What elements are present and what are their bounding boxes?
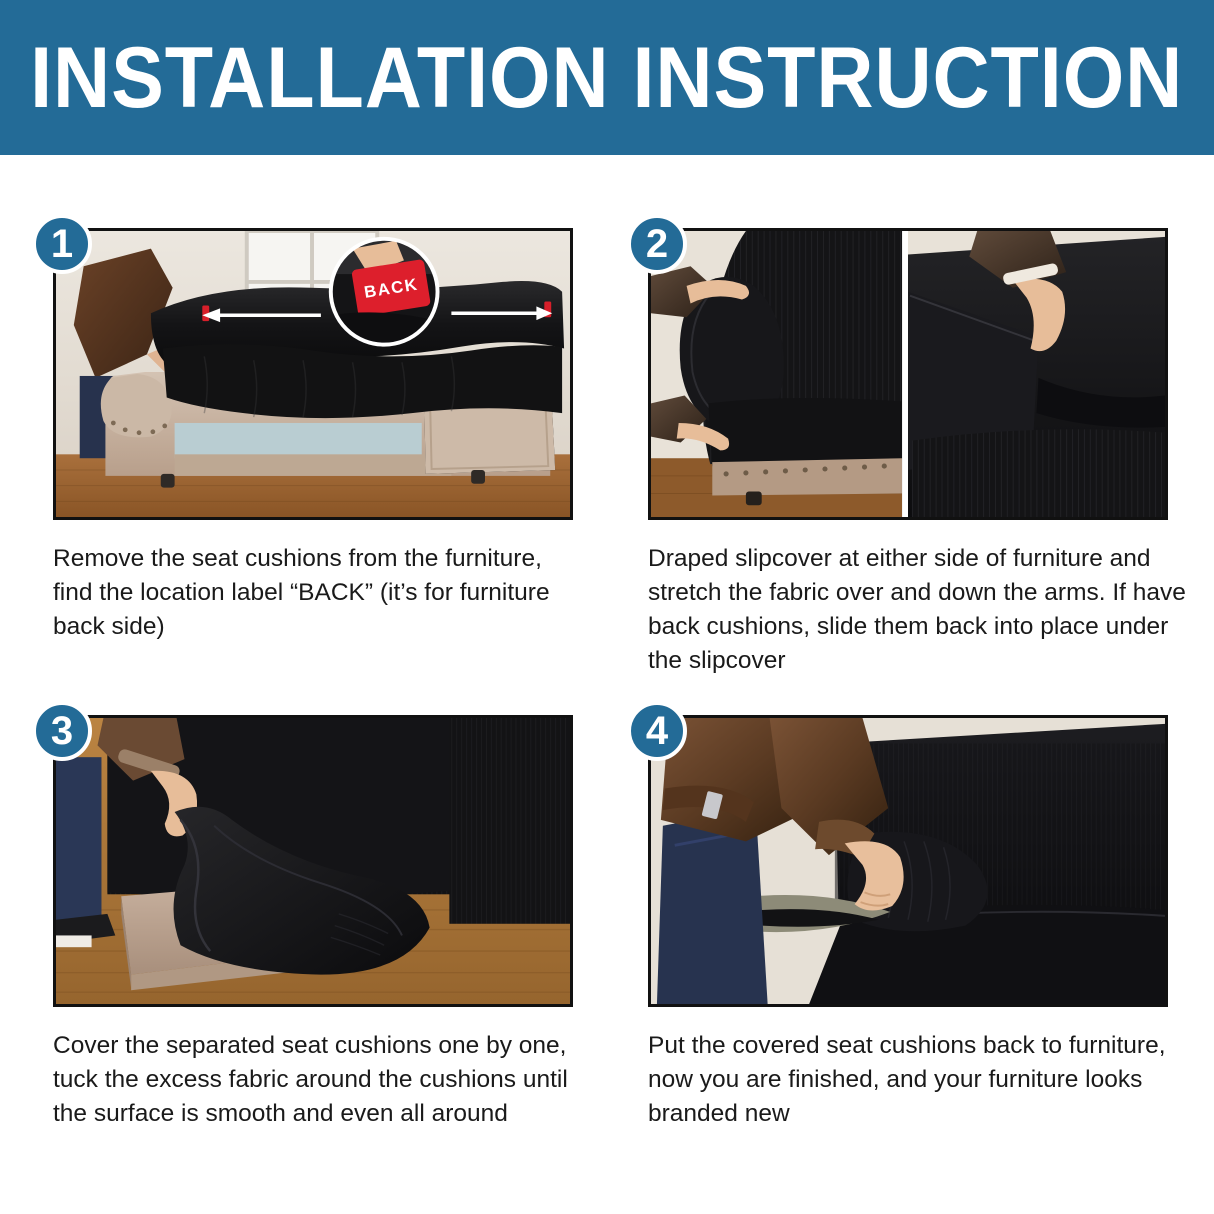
step-2-caption: Draped slipcover at either side of furni…: [648, 542, 1193, 678]
step-3-photo-frame: [53, 715, 573, 1007]
step-3-badge: 3: [32, 701, 92, 761]
step-1-illustration: BACK: [56, 231, 570, 517]
step-1-badge: 1: [32, 214, 92, 274]
step-4-photo: 4: [648, 715, 1168, 1007]
step-2: 2 Draped slipcover at either side of fur…: [627, 228, 1167, 678]
step-3-illustration: [56, 718, 570, 1004]
step-1: BACK 1 Remove the seat cushions from the…: [32, 228, 572, 644]
step-2-badge: 2: [627, 214, 687, 274]
page-title: INSTALLATION INSTRUCTION: [30, 35, 1183, 121]
step-2-panel-left: [651, 231, 902, 517]
step-4-caption: Put the covered seat cushions back to fu…: [648, 1029, 1193, 1131]
step-4: 4 Put the covered seat cushions back to …: [627, 715, 1167, 1131]
step-1-photo: BACK 1: [53, 228, 573, 520]
step-2-panel-right: [908, 231, 1165, 517]
step-4-badge: 4: [627, 701, 687, 761]
step-3-photo: 3: [53, 715, 573, 1007]
step-2-photo-frame: [648, 228, 1168, 520]
step-3-caption: Cover the separated seat cushions one by…: [53, 1029, 578, 1131]
step-4-photo-frame: [648, 715, 1168, 1007]
header-banner: INSTALLATION INSTRUCTION: [0, 0, 1214, 155]
step-2-illustration: [651, 231, 1165, 517]
step-1-photo-frame: BACK: [53, 228, 573, 520]
step-3: 3 Cover the separated seat cushions one …: [32, 715, 572, 1131]
steps-grid: BACK 1 Remove the seat cushions from the…: [0, 155, 1214, 1214]
step-2-photo: 2: [648, 228, 1168, 520]
step-4-illustration: [651, 718, 1165, 1004]
step-1-caption: Remove the seat cushions from the furnit…: [53, 542, 578, 644]
